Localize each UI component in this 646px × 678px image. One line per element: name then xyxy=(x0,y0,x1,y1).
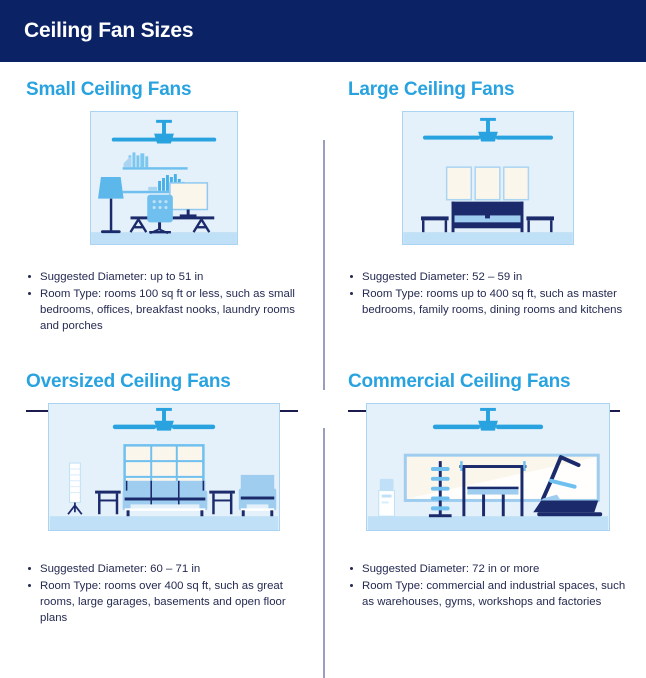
ceiling-fan-icon xyxy=(433,408,543,431)
illustration-wrap-large xyxy=(348,111,628,259)
bullet-list-oversized: Suggested Diameter: 60 – 71 in Room Type… xyxy=(26,561,302,627)
office-chair-icon xyxy=(147,195,173,233)
list-item: Room Type: rooms over 400 sq ft, such as… xyxy=(26,578,302,627)
wall-art-icon xyxy=(447,167,529,200)
list-item: Suggested Diameter: 52 – 59 in xyxy=(348,269,628,285)
section-title-oversized: Oversized Ceiling Fans xyxy=(26,372,302,393)
bullet-list-commercial: Suggested Diameter: 72 in or more Room T… xyxy=(348,561,628,611)
floor-lamp-icon xyxy=(68,463,82,514)
list-item: Room Type: rooms 100 sq ft or less, such… xyxy=(26,286,302,335)
ceiling-fan-icon xyxy=(112,120,216,144)
illustration-wrap-commercial xyxy=(348,403,628,551)
section-title-large: Large Ceiling Fans xyxy=(348,80,628,101)
illustration-wrap-small xyxy=(26,111,302,259)
page-title: Ceiling Fan Sizes xyxy=(24,19,193,43)
home-office-illustration xyxy=(90,111,238,245)
monitor-icon xyxy=(170,183,207,217)
list-item: Suggested Diameter: 60 – 71 in xyxy=(26,561,302,577)
section-small-ceiling-fans: Small Ceiling Fans xyxy=(0,62,324,354)
gym-illustration xyxy=(366,403,610,531)
section-title-small: Small Ceiling Fans xyxy=(26,80,302,101)
floor-lamp-icon xyxy=(98,177,124,233)
section-large-ceiling-fans: Large Ceiling Fans xyxy=(324,62,646,354)
bed-icon xyxy=(452,202,524,233)
list-item: Room Type: commercial and industrial spa… xyxy=(348,578,628,610)
section-title-commercial: Commercial Ceiling Fans xyxy=(348,372,628,393)
bullet-list-small: Suggested Diameter: up to 51 in Room Typ… xyxy=(26,269,302,335)
page-header: Ceiling Fan Sizes xyxy=(0,0,646,62)
living-room-illustration xyxy=(48,403,280,531)
list-item: Suggested Diameter: 72 in or more xyxy=(348,561,628,577)
side-table-icon xyxy=(95,491,121,515)
ceiling-fan-icon xyxy=(423,118,553,142)
sofa-icon xyxy=(123,481,208,516)
infographic-page: Ceiling Fan Sizes Small Ceiling Fans xyxy=(0,0,646,646)
list-item: Suggested Diameter: up to 51 in xyxy=(26,269,302,285)
bullet-list-large: Suggested Diameter: 52 – 59 in Room Type… xyxy=(348,269,628,319)
bedroom-illustration xyxy=(402,111,574,245)
water-cooler-icon xyxy=(379,479,395,516)
sections-grid: Small Ceiling Fans xyxy=(0,62,646,646)
ceiling-fan-icon xyxy=(113,408,215,431)
armchair-icon xyxy=(239,475,276,516)
section-oversized-ceiling-fans: Oversized Ceiling Fans xyxy=(0,354,324,646)
list-item: Room Type: rooms up to 400 sq ft, such a… xyxy=(348,286,628,318)
side-table-icon xyxy=(209,491,235,515)
section-commercial-ceiling-fans: Commercial Ceiling Fans xyxy=(324,354,646,646)
illustration-wrap-oversized xyxy=(26,403,302,551)
dumbbell-rack-icon xyxy=(429,461,452,517)
